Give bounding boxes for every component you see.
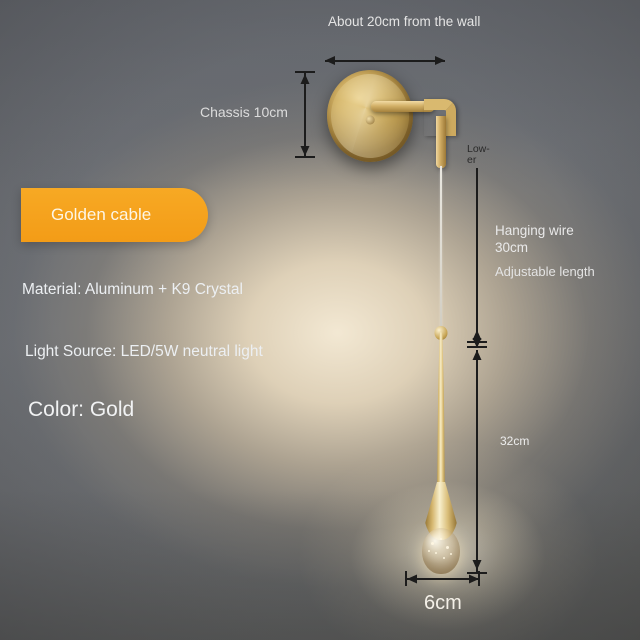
sparkle-icon xyxy=(443,557,445,559)
spec-material: Material: Aluminum + K9 Crystal xyxy=(22,281,243,299)
sparkle-icon xyxy=(431,542,434,545)
sparkle-icon xyxy=(450,553,452,555)
dimension-arrowheads-wall-projection xyxy=(318,52,452,69)
product-spec-image: About 20cm from the wall Chassis 10cm Lo… xyxy=(0,0,640,640)
crystal-bulb xyxy=(422,528,460,574)
sparkle-icon xyxy=(440,538,442,540)
sparkle-icon xyxy=(435,552,437,554)
dimension-line-hanging-wire xyxy=(476,168,478,340)
dimension-label-chassis: Chassis 10cm xyxy=(200,104,288,120)
sparkle-icon xyxy=(446,546,449,549)
golden-cable-badge: Golden cable xyxy=(21,188,208,242)
dimension-arrowheads-drop-width xyxy=(403,571,483,587)
lamp-arm-vertical xyxy=(436,116,446,168)
sparkle-icon xyxy=(428,550,430,552)
dimension-label-drop-width: 6cm xyxy=(424,592,462,615)
spec-light-source: Light Source: LED/5W neutral light xyxy=(25,343,263,361)
dimension-label-drop-height: 32cm xyxy=(500,434,529,448)
dimension-label-hanging-wire: Hanging wire30cm xyxy=(495,222,574,256)
dimension-label-lower: Low-er xyxy=(467,144,495,166)
vignette-overlay xyxy=(0,0,640,640)
dimension-label-wall-projection: About 20cm from the wall xyxy=(328,14,488,30)
crystal-pendant xyxy=(424,332,458,572)
pendant-neck xyxy=(436,332,447,492)
spec-color: Color: Gold xyxy=(28,398,134,422)
golden-cable-badge-label: Golden cable xyxy=(51,205,151,225)
hanging-cable xyxy=(440,166,442,338)
dimension-tick-midpoint-upper xyxy=(467,341,487,343)
dimension-arrowheads-drop-height xyxy=(469,344,485,576)
dimension-label-adjustable: Adjustable length xyxy=(495,264,595,279)
dimension-arrowheads-chassis xyxy=(297,71,313,159)
